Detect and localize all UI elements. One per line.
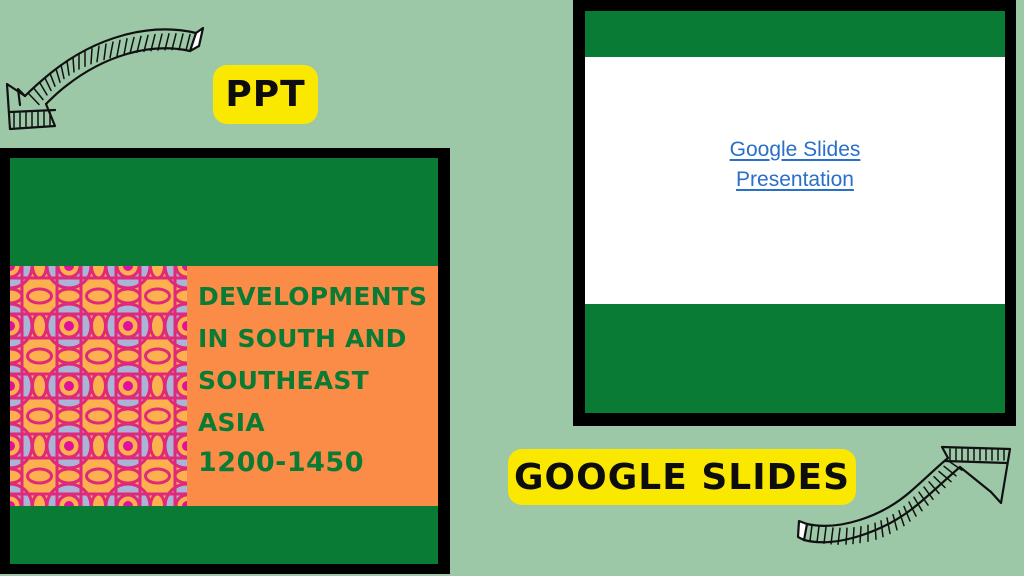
ppt-slide-surface: DEVELOPMENTS IN SOUTH AND SOUTHEAST ASIA… — [10, 158, 438, 564]
ppt-title-line-1: DEVELOPMENTS — [198, 276, 438, 318]
ppt-slide-title: DEVELOPMENTS IN SOUTH AND SOUTHEAST ASIA — [198, 276, 438, 444]
google-slides-thumbnail[interactable]: Google Slides Presentation — [573, 0, 1016, 426]
ppt-title-line-3: SOUTHEAST — [198, 360, 438, 402]
ppt-label-chip: PPT — [213, 65, 318, 124]
google-slides-link[interactable]: Google Slides Presentation — [585, 135, 1005, 195]
ppt-slide-date-range: 1200-1450 — [198, 447, 364, 478]
ppt-slide-thumbnail[interactable]: DEVELOPMENTS IN SOUTH AND SOUTHEAST ASIA… — [0, 148, 450, 574]
ppt-title-line-2: IN SOUTH AND — [198, 318, 438, 360]
curved-arrow-left-icon — [0, 16, 225, 131]
google-slides-link-line-1: Google Slides — [585, 135, 1005, 165]
google-slides-top-band — [585, 11, 1005, 57]
google-slides-surface: Google Slides Presentation — [585, 11, 1005, 413]
ppt-title-line-4: ASIA — [198, 402, 438, 444]
decorative-pattern-block — [10, 266, 187, 506]
google-slides-label-chip: GOOGLE SLIDES — [508, 449, 856, 505]
google-slides-link-line-2: Presentation — [585, 165, 1005, 195]
google-slides-bottom-band — [585, 304, 1005, 413]
slide-comparison-canvas: DEVELOPMENTS IN SOUTH AND SOUTHEAST ASIA… — [0, 0, 1024, 576]
